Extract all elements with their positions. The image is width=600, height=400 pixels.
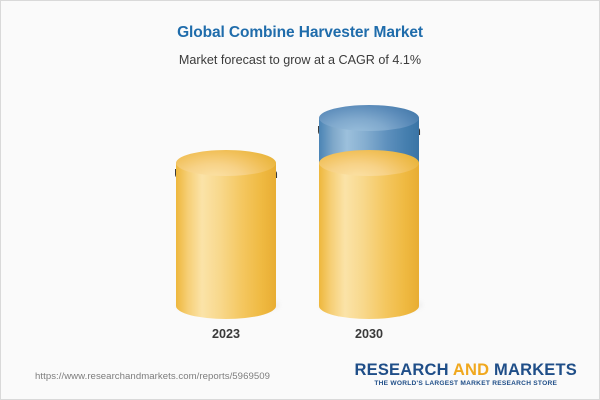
bar-group-2030: USD 64.94 Billion 2030 — [313, 91, 425, 341]
page-title: Global Combine Harvester Market — [1, 23, 599, 43]
cylinder-bottom-edge-2023 — [176, 293, 276, 319]
brand-logo[interactable]: RESEARCH AND MARKETS THE WORLD'S LARGEST… — [355, 361, 578, 387]
cylinder-2023 — [176, 163, 276, 306]
cylinder-body-2023 — [176, 163, 276, 306]
cylinder-2030 — [319, 118, 419, 306]
category-label-2023: 2023 — [212, 327, 240, 341]
cylinder-body-base-2030 — [319, 163, 419, 306]
chart-header: Global Combine Harvester Market Market f… — [1, 23, 599, 68]
logo-wordmark: RESEARCH AND MARKETS — [355, 361, 578, 379]
chart-plot-area: USD 49.33 Billion 2023 USD 64.94 Billion — [1, 91, 599, 341]
logo-word-markets: MARKETS — [494, 361, 577, 379]
cylinder-segment-base-2030 — [319, 163, 419, 306]
cylinder-segment-base-2023 — [176, 163, 276, 306]
infographic-canvas: Global Combine Harvester Market Market f… — [0, 0, 600, 400]
logo-word-and: AND — [449, 361, 494, 379]
cylinder-top-cap-2023 — [176, 150, 276, 176]
footer: https://www.researchandmarkets.com/repor… — [1, 347, 599, 399]
logo-tagline: THE WORLD'S LARGEST MARKET RESEARCH STOR… — [355, 380, 578, 387]
category-label-2030: 2030 — [355, 327, 383, 341]
cylinder-top-cap-2030 — [319, 105, 419, 131]
cylinder-divider-cap-2030 — [319, 150, 419, 176]
chart-subtitle: Market forecast to grow at a CAGR of 4.1… — [1, 52, 599, 68]
logo-word-research: RESEARCH — [355, 361, 449, 379]
cylinder-bottom-edge-2030 — [319, 293, 419, 319]
bar-group-2023: USD 49.33 Billion 2023 — [170, 91, 282, 341]
source-url-link[interactable]: https://www.researchandmarkets.com/repor… — [35, 371, 270, 382]
